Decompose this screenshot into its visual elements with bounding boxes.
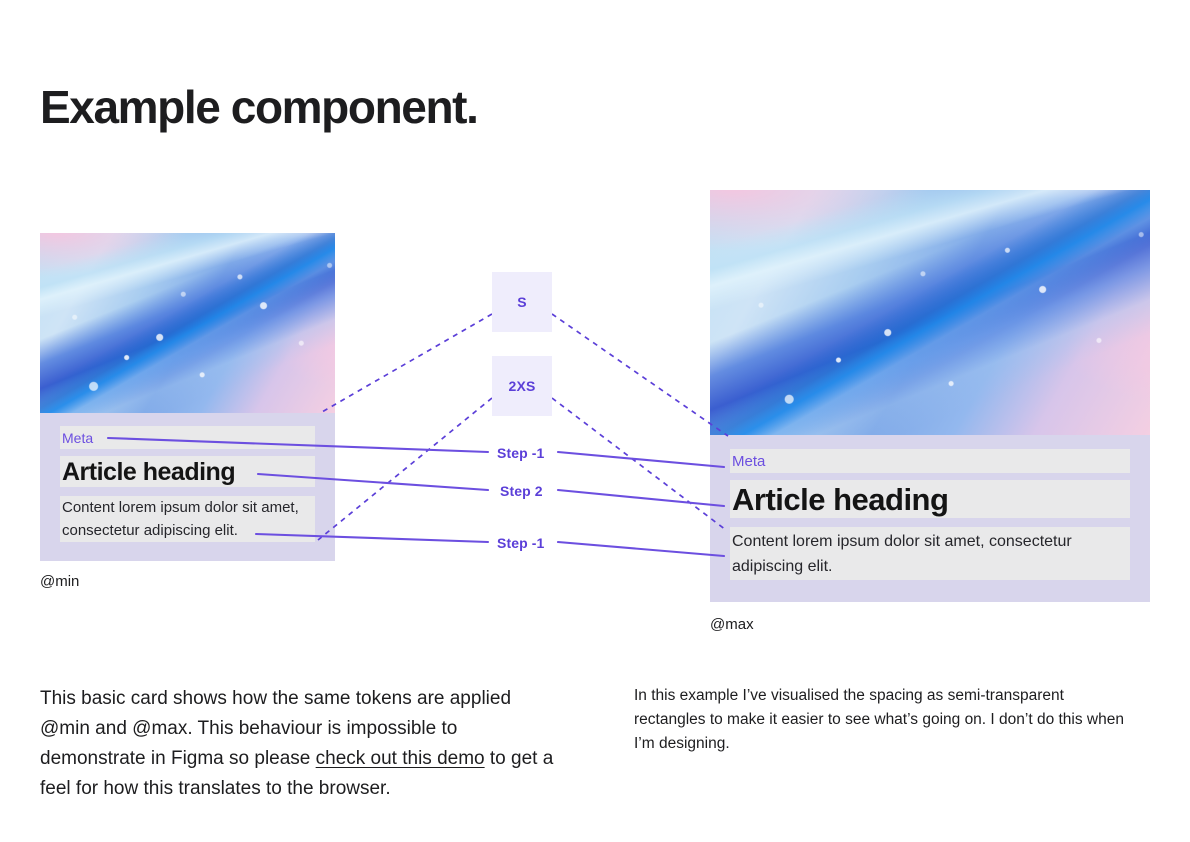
card-min-meta-row: Meta [60,426,315,449]
card-min-heading: Article heading [60,457,235,487]
card-min-caption: @min [40,572,79,592]
card-max-gap-meta-heading [710,473,1150,480]
card-min-body-text: Content lorem ipsum dolor sit amet, cons… [60,496,315,542]
wire-step1-right [558,452,724,467]
prose-left: This basic card shows how the same token… [40,684,560,804]
card-min-body-row: Content lorem ipsum dolor sit amet, cons… [60,496,315,542]
token-badge-s-label: S [517,294,527,310]
step-label-body-gap: Step -1 [497,535,544,551]
wire-dashed-2xs-left [318,398,492,540]
card-min-meta-label: Meta [60,429,93,447]
card-max: Meta Article heading Content lorem ipsum… [710,190,1150,602]
card-min-gap-heading-body [40,487,335,496]
wire-step2-right [558,490,724,506]
page-title: Example component. [40,78,477,136]
card-max-body-row: Content lorem ipsum dolor sit amet, cons… [730,527,1130,580]
token-badge-2xs-label: 2XS [508,378,535,394]
card-min-body: Meta Article heading Content lorem ipsum… [40,413,335,561]
card-max-artwork [710,190,1150,435]
card-max-pad-bottom [710,580,1150,602]
card-min-artwork [40,233,335,413]
wire-dashed-s-right [552,314,728,436]
card-min-pad-bottom [40,542,335,561]
step-label-heading-gap-text: Step 2 [500,483,543,499]
wire-step3-right [558,542,724,556]
wire-dashed-2xs-right [552,398,726,530]
design-spec-page: Example component. Meta Article heading [0,0,1190,842]
card-max-body-text: Content lorem ipsum dolor sit amet, cons… [730,529,1130,579]
card-min-pad-top [40,413,335,426]
card-min-gap-meta-heading [40,449,335,456]
step-label-body-gap-text: Step -1 [497,535,544,551]
card-max-heading: Article heading [730,481,948,518]
prose-right: In this example I’ve visualised the spac… [634,684,1130,756]
demo-link[interactable]: check out this demo [316,748,485,769]
token-badge-s[interactable]: S [492,272,552,332]
card-max-caption: @max [710,615,754,635]
card-min: Meta Article heading Content lorem ipsum… [40,233,335,561]
card-max-meta-row: Meta [730,449,1130,473]
card-max-gap-heading-body [710,518,1150,527]
card-max-body: Meta Article heading Content lorem ipsum… [710,435,1150,602]
step-label-meta-gap-text: Step -1 [497,445,544,461]
card-min-heading-row: Article heading [60,456,315,487]
step-label-meta-gap: Step -1 [497,445,544,461]
card-max-meta-label: Meta [730,452,765,471]
card-max-pad-top [710,435,1150,449]
card-max-heading-row: Article heading [730,480,1130,518]
token-badge-2xs[interactable]: 2XS [492,356,552,416]
wire-dashed-s-left [322,314,492,412]
step-label-heading-gap: Step 2 [500,483,543,499]
